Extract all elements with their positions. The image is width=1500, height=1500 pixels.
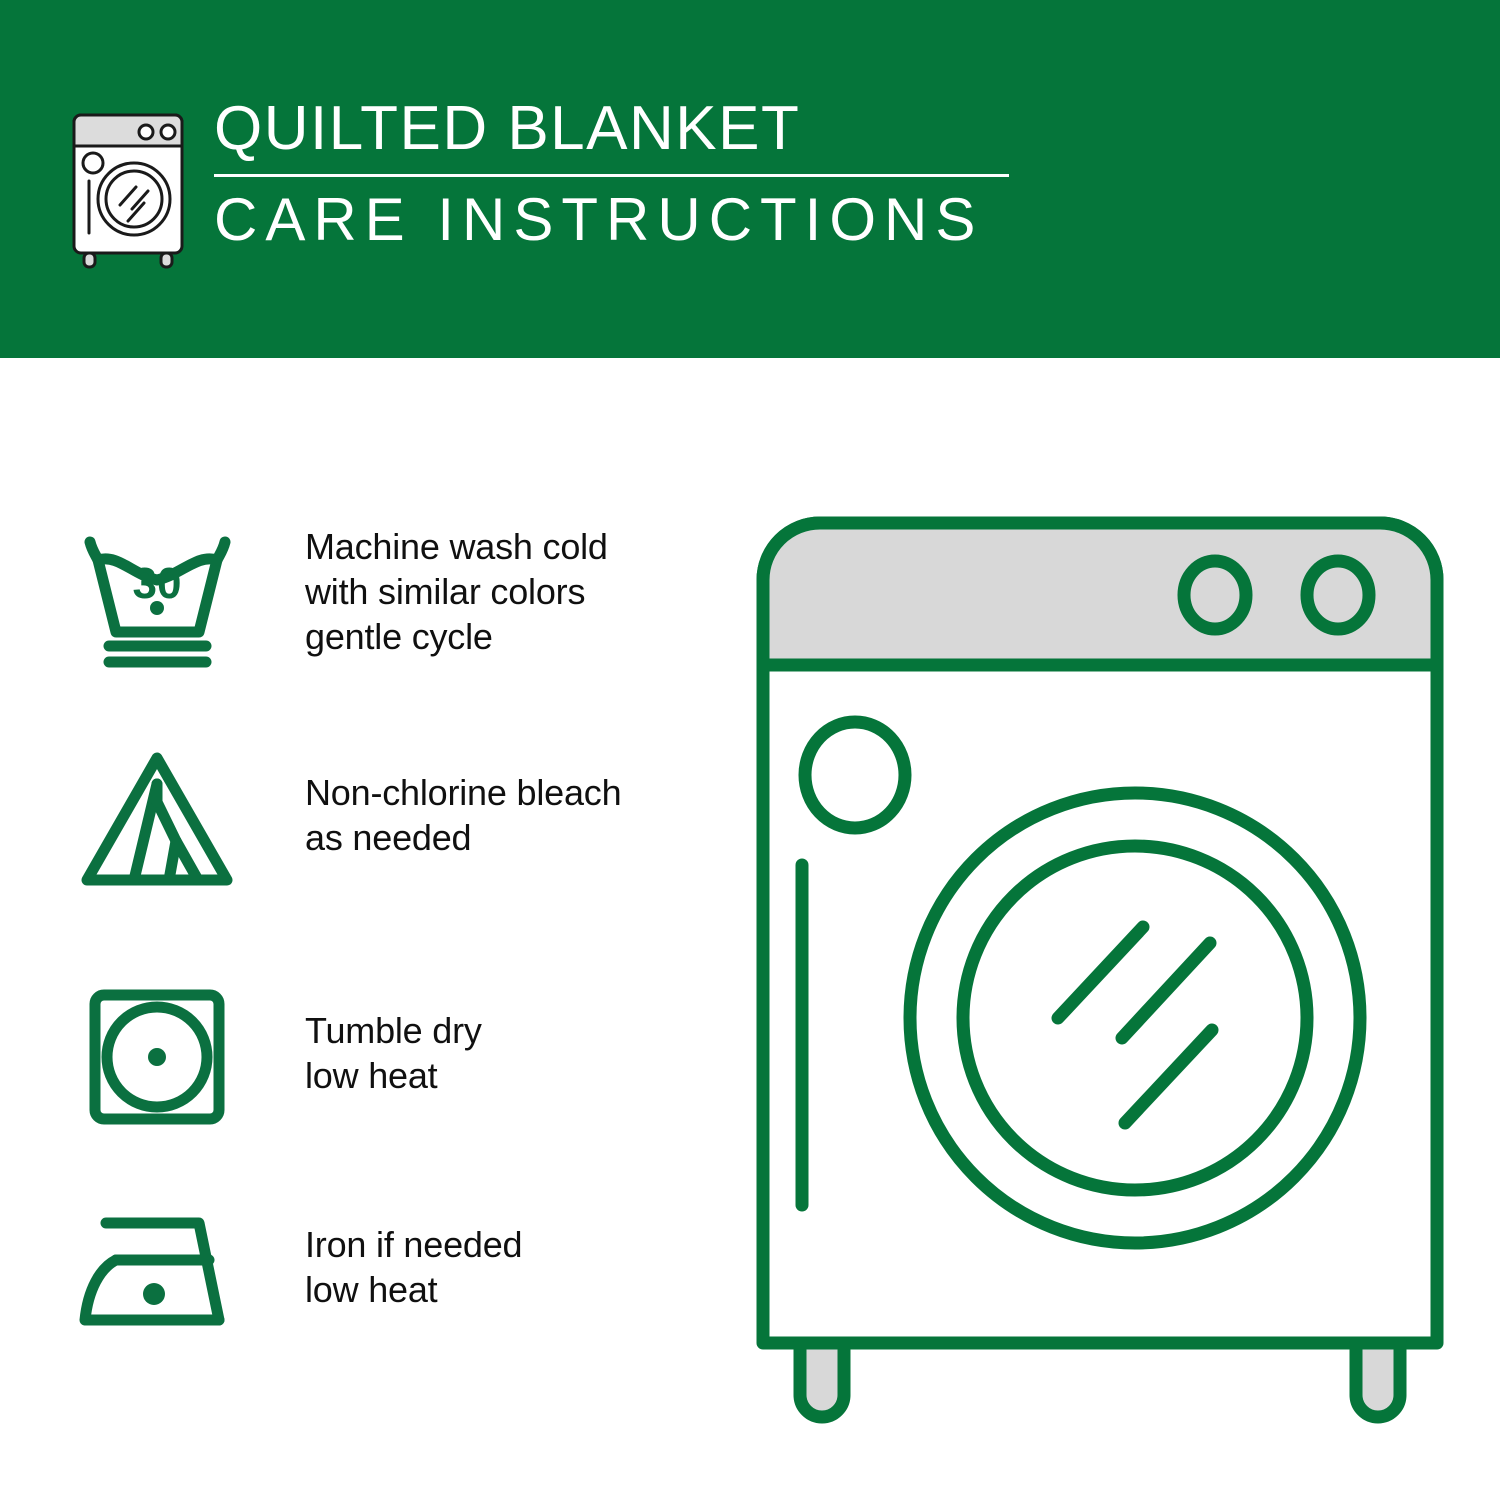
triangle-non-chlorine-bleach-icon [70, 742, 245, 892]
page-title: QUILTED BLANKET [214, 97, 1009, 160]
control-knob-left [1184, 561, 1246, 629]
machine-leg-left [800, 1343, 844, 1417]
dispenser-circle [805, 722, 905, 828]
iron-heat-dot [143, 1283, 165, 1305]
tumble-dry-low-heat-icon [70, 982, 245, 1132]
care-instructions-page: QUILTED BLANKET CARE INSTRUCTIONS [0, 0, 1500, 1500]
care-row: Tumble dry low heat [70, 982, 710, 1132]
control-knob-right [1307, 561, 1369, 629]
care-row-text: Non-chlorine bleach as needed [305, 742, 621, 860]
iron-low-heat-icon [70, 1198, 245, 1348]
care-row: 30 Machine wash cold with similar colors… [70, 520, 710, 670]
wash-tub-30-gentle-icon: 30 [70, 520, 245, 670]
title-divider [214, 174, 1009, 177]
page-subtitle: CARE INSTRUCTIONS [214, 189, 1009, 250]
care-row: Iron if needed low heat [70, 1198, 710, 1348]
header-band: QUILTED BLANKET CARE INSTRUCTIONS [0, 0, 1500, 358]
header-content: QUILTED BLANKET CARE INSTRUCTIONS [62, 95, 1062, 285]
care-row-text: Machine wash cold with similar colors ge… [305, 520, 608, 659]
care-row-text: Tumble dry low heat [305, 982, 482, 1098]
front-load-washing-machine-illustration [745, 505, 1455, 1430]
dryer-heat-dot [148, 1048, 166, 1066]
care-row: Non-chlorine bleach as needed [70, 742, 710, 892]
wash-temperature-label: 30 [133, 559, 182, 608]
header-title-group: QUILTED BLANKET CARE INSTRUCTIONS [214, 95, 1009, 250]
care-row-text: Iron if needed low heat [305, 1198, 522, 1312]
washing-machine-icon [62, 105, 194, 270]
machine-leg-right [1356, 1343, 1400, 1417]
